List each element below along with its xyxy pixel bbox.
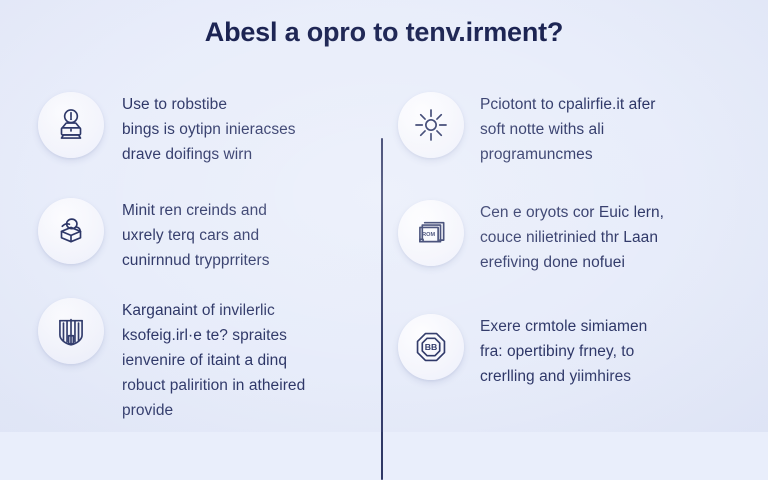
- feature-line: Pciotont to cpalirfie.it afer: [480, 92, 655, 117]
- feature-line: Minit ren creinds and: [122, 198, 270, 223]
- feature-item[interactable]: Karganaint of invilerlic ksofeig.irl·e t…: [0, 284, 384, 414]
- feature-line: ksofeig.irl·e te? spraites: [122, 323, 305, 348]
- feature-line: bings is oytipn inieracses: [122, 117, 296, 142]
- sun-brightness-icon: [398, 92, 464, 158]
- feature-line: provide: [122, 398, 305, 423]
- feature-line: uxrely terq cars and: [122, 223, 270, 248]
- svg-text:BB: BB: [425, 342, 438, 352]
- right-column: Pciotont to cpalirfie.it afer soft notte…: [384, 68, 768, 420]
- feature-line: Karganaint of invilerlic: [122, 298, 305, 323]
- feature-item[interactable]: Use to robstibe bings is oytipn inieracs…: [0, 76, 384, 180]
- feature-text: Cen e oryots cor Euic lern, couce niliet…: [480, 198, 664, 275]
- feature-columns: Use to robstibe bings is oytipn inieracs…: [0, 68, 768, 420]
- svg-text:ROM: ROM: [422, 232, 435, 238]
- person-in-box-icon: [38, 198, 104, 264]
- octagon-chip-icon: BB: [398, 314, 464, 380]
- feature-line: Exere crmtole simiamen: [480, 314, 647, 339]
- feature-line: ienvenire of itaint a dinq: [122, 348, 305, 373]
- page-title-container: Abesl a opro to tenv.irment?: [0, 18, 768, 48]
- feature-line: crerlling and yiimhires: [480, 364, 647, 389]
- feature-item[interactable]: ROM Cen e oryots cor Euic lern, couce ni…: [384, 180, 768, 284]
- feature-text: Karganaint of invilerlic ksofeig.irl·e t…: [122, 296, 305, 423]
- feature-item[interactable]: Pciotont to cpalirfie.it afer soft notte…: [384, 76, 768, 180]
- feature-line: cunirnnud trypprriters: [122, 248, 270, 273]
- feature-line: Use to robstibe: [122, 92, 296, 117]
- feature-line: soft notte withs ali: [480, 117, 655, 142]
- feature-line: programuncmes: [480, 142, 655, 167]
- feature-item[interactable]: BB Exere crmtole simiamen fra: opertibin…: [384, 284, 768, 414]
- feature-line: drave doifings wirn: [122, 142, 296, 167]
- feature-line: robuct palirition in atheired: [122, 373, 305, 398]
- feature-line: fra: opertibiny frney, to: [480, 339, 647, 364]
- feature-item[interactable]: Minit ren creinds and uxrely terq cars a…: [0, 180, 384, 284]
- feature-line: couce nilietrinied thr Laan: [480, 225, 664, 250]
- vertical-divider: [381, 138, 383, 480]
- left-column: Use to robstibe bings is oytipn inieracs…: [0, 68, 384, 420]
- shield-building-icon: [38, 298, 104, 364]
- stacked-cards-icon: ROM: [398, 200, 464, 266]
- feature-text: Use to robstibe bings is oytipn inieracs…: [122, 90, 296, 167]
- feature-line: erefiving done nofuei: [480, 250, 664, 275]
- infographic-slide: Abesl a opro to tenv.irment?: [0, 0, 768, 432]
- feature-line: Cen e oryots cor Euic lern,: [480, 200, 664, 225]
- feature-text: Pciotont to cpalirfie.it afer soft notte…: [480, 90, 655, 167]
- feature-text: Minit ren creinds and uxrely terq cars a…: [122, 196, 270, 273]
- page-title: Abesl a opro to tenv.irment?: [205, 18, 563, 48]
- feature-text: Exere crmtole simiamen fra: opertibiny f…: [480, 312, 647, 389]
- user-podium-icon: [38, 92, 104, 158]
